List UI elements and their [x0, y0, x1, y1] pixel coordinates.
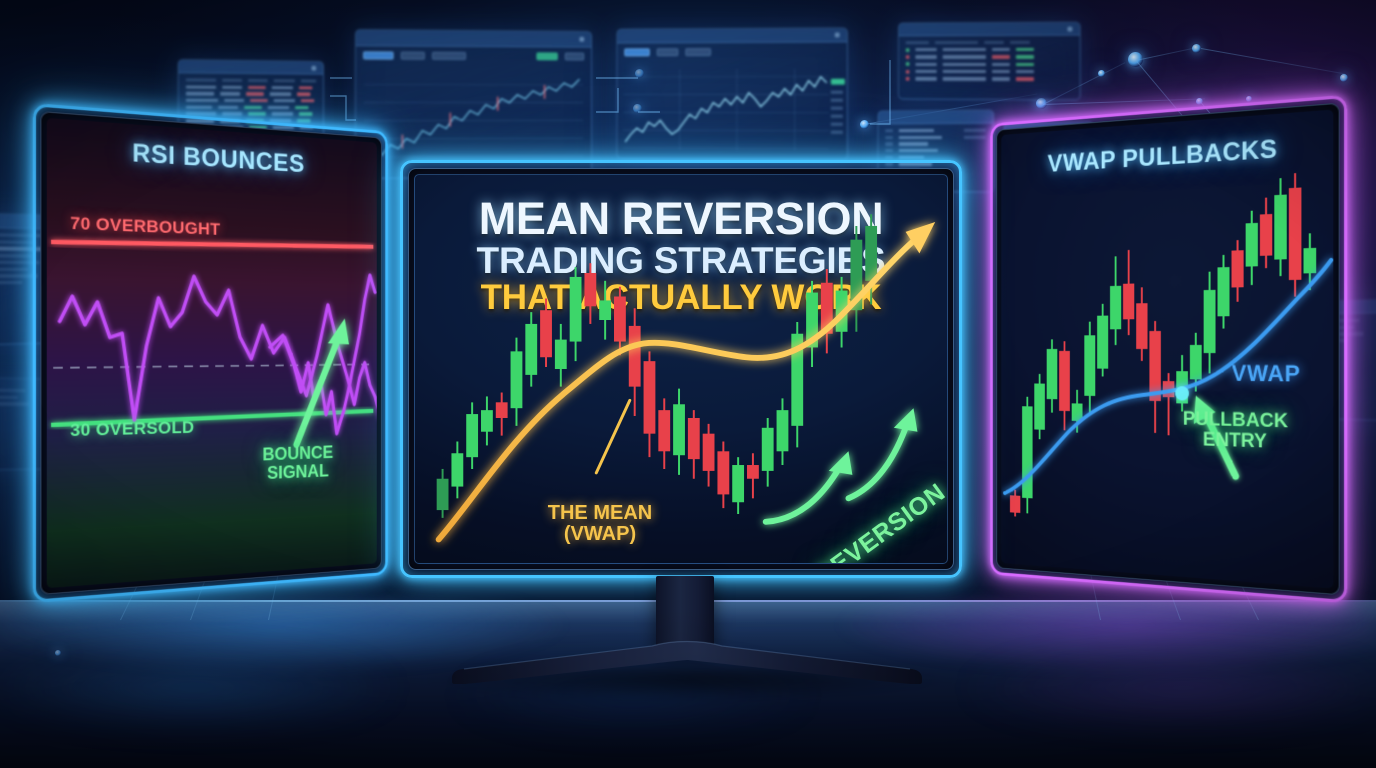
poster-stage: RSI BOUNCES: [0, 0, 1376, 768]
vignette: [0, 0, 1376, 768]
